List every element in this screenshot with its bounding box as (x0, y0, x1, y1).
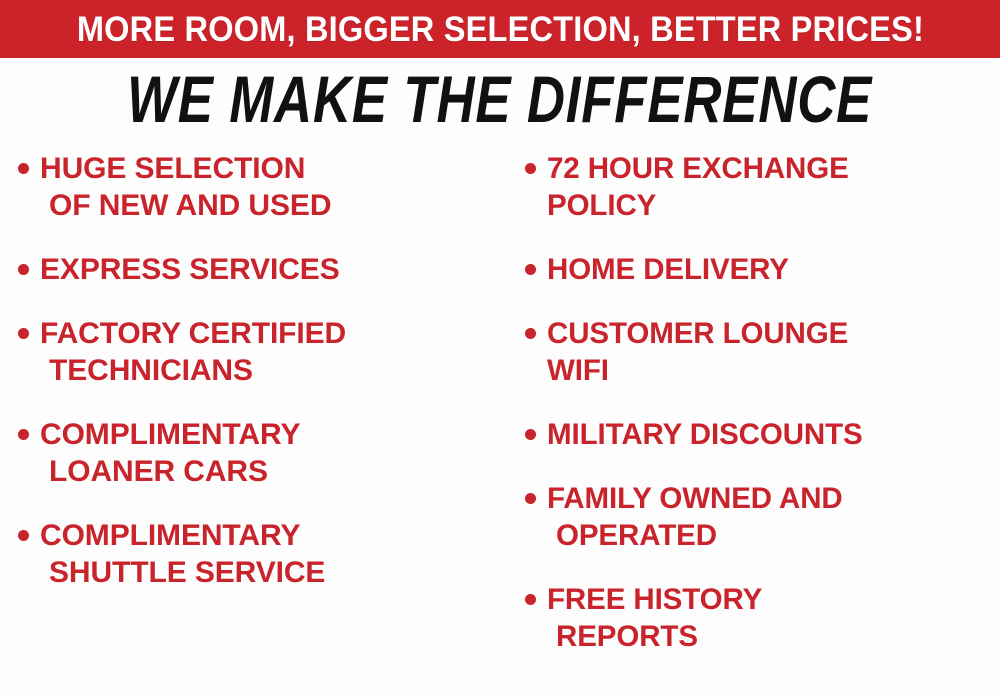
bullet-dot-icon (525, 328, 536, 339)
list-item-lines: FACTORY CERTIFIED TECHNICIANS (40, 315, 505, 389)
list-item-line: FREE HISTORY (547, 581, 1000, 618)
list-item-lines: HOME DELIVERY (547, 251, 1000, 288)
bullet-dot-icon (18, 264, 29, 275)
list-item: FAMILY OWNED AND OPERATED (525, 480, 1000, 554)
list-item-lines: COMPLIMENTARY LOANER CARS (40, 416, 505, 490)
list-item-line: OF NEW AND USED (40, 187, 505, 224)
features-columns: HUGE SELECTION OF NEW AND USED EXPRESS S… (0, 136, 1000, 682)
bullet-dot-icon (525, 264, 536, 275)
list-item-line: CUSTOMER LOUNGE (547, 315, 1000, 352)
list-item: HUGE SELECTION OF NEW AND USED (18, 150, 505, 224)
list-item: COMPLIMENTARY SHUTTLE SERVICE (18, 517, 505, 591)
list-item-lines: MILITARY DISCOUNTS (547, 416, 1000, 453)
headline-container: WE MAKE THE DIFFERENCE (0, 58, 1000, 136)
list-item: 72 HOUR EXCHANGE POLICY (525, 150, 1000, 224)
bullet-dot-icon (18, 328, 29, 339)
features-column-left: HUGE SELECTION OF NEW AND USED EXPRESS S… (0, 150, 505, 682)
list-item-line: OPERATED (547, 517, 1000, 554)
list-item-lines: FAMILY OWNED AND OPERATED (547, 480, 1000, 554)
bullet-dot-icon (525, 429, 536, 440)
list-item-line: MILITARY DISCOUNTS (547, 416, 1000, 453)
list-item-lines: HUGE SELECTION OF NEW AND USED (40, 150, 505, 224)
list-item-line: 72 HOUR EXCHANGE (547, 150, 1000, 187)
list-item-line: COMPLIMENTARY (40, 517, 505, 554)
bullet-dot-icon (525, 594, 536, 605)
list-item-lines: COMPLIMENTARY SHUTTLE SERVICE (40, 517, 505, 591)
bullet-dot-icon (18, 163, 29, 174)
bullet-dot-icon (18, 429, 29, 440)
list-item-line: FAMILY OWNED AND (547, 480, 1000, 517)
list-item-line: POLICY (547, 187, 1000, 224)
list-item-line: COMPLIMENTARY (40, 416, 505, 453)
list-item-line: HOME DELIVERY (547, 251, 1000, 288)
list-item: COMPLIMENTARY LOANER CARS (18, 416, 505, 490)
promo-banner-text: MORE ROOM, BIGGER SELECTION, BETTER PRIC… (76, 12, 923, 47)
list-item-line: REPORTS (547, 618, 1000, 655)
bullet-dot-icon (525, 163, 536, 174)
list-item-line: HUGE SELECTION (40, 150, 505, 187)
list-item: HOME DELIVERY (525, 251, 1000, 288)
list-item-lines: CUSTOMER LOUNGE WIFI (547, 315, 1000, 389)
bullet-dot-icon (18, 530, 29, 541)
list-item: EXPRESS SERVICES (18, 251, 505, 288)
list-item-line: SHUTTLE SERVICE (40, 554, 505, 591)
list-item-line: TECHNICIANS (40, 352, 505, 389)
list-item-line: EXPRESS SERVICES (40, 251, 505, 288)
bullet-dot-icon (525, 493, 536, 504)
list-item: FACTORY CERTIFIED TECHNICIANS (18, 315, 505, 389)
list-item: CUSTOMER LOUNGE WIFI (525, 315, 1000, 389)
list-item-line: WIFI (547, 352, 1000, 389)
promo-banner: MORE ROOM, BIGGER SELECTION, BETTER PRIC… (0, 0, 1000, 58)
features-column-right: 72 HOUR EXCHANGE POLICY HOME DELIVERY CU… (505, 150, 1000, 682)
list-item-line: LOANER CARS (40, 453, 505, 490)
list-item-lines: 72 HOUR EXCHANGE POLICY (547, 150, 1000, 224)
list-item: MILITARY DISCOUNTS (525, 416, 1000, 453)
list-item-line: FACTORY CERTIFIED (40, 315, 505, 352)
list-item: FREE HISTORY REPORTS (525, 581, 1000, 655)
list-item-lines: EXPRESS SERVICES (40, 251, 505, 288)
page-title: WE MAKE THE DIFFERENCE (127, 66, 872, 132)
list-item-lines: FREE HISTORY REPORTS (547, 581, 1000, 655)
